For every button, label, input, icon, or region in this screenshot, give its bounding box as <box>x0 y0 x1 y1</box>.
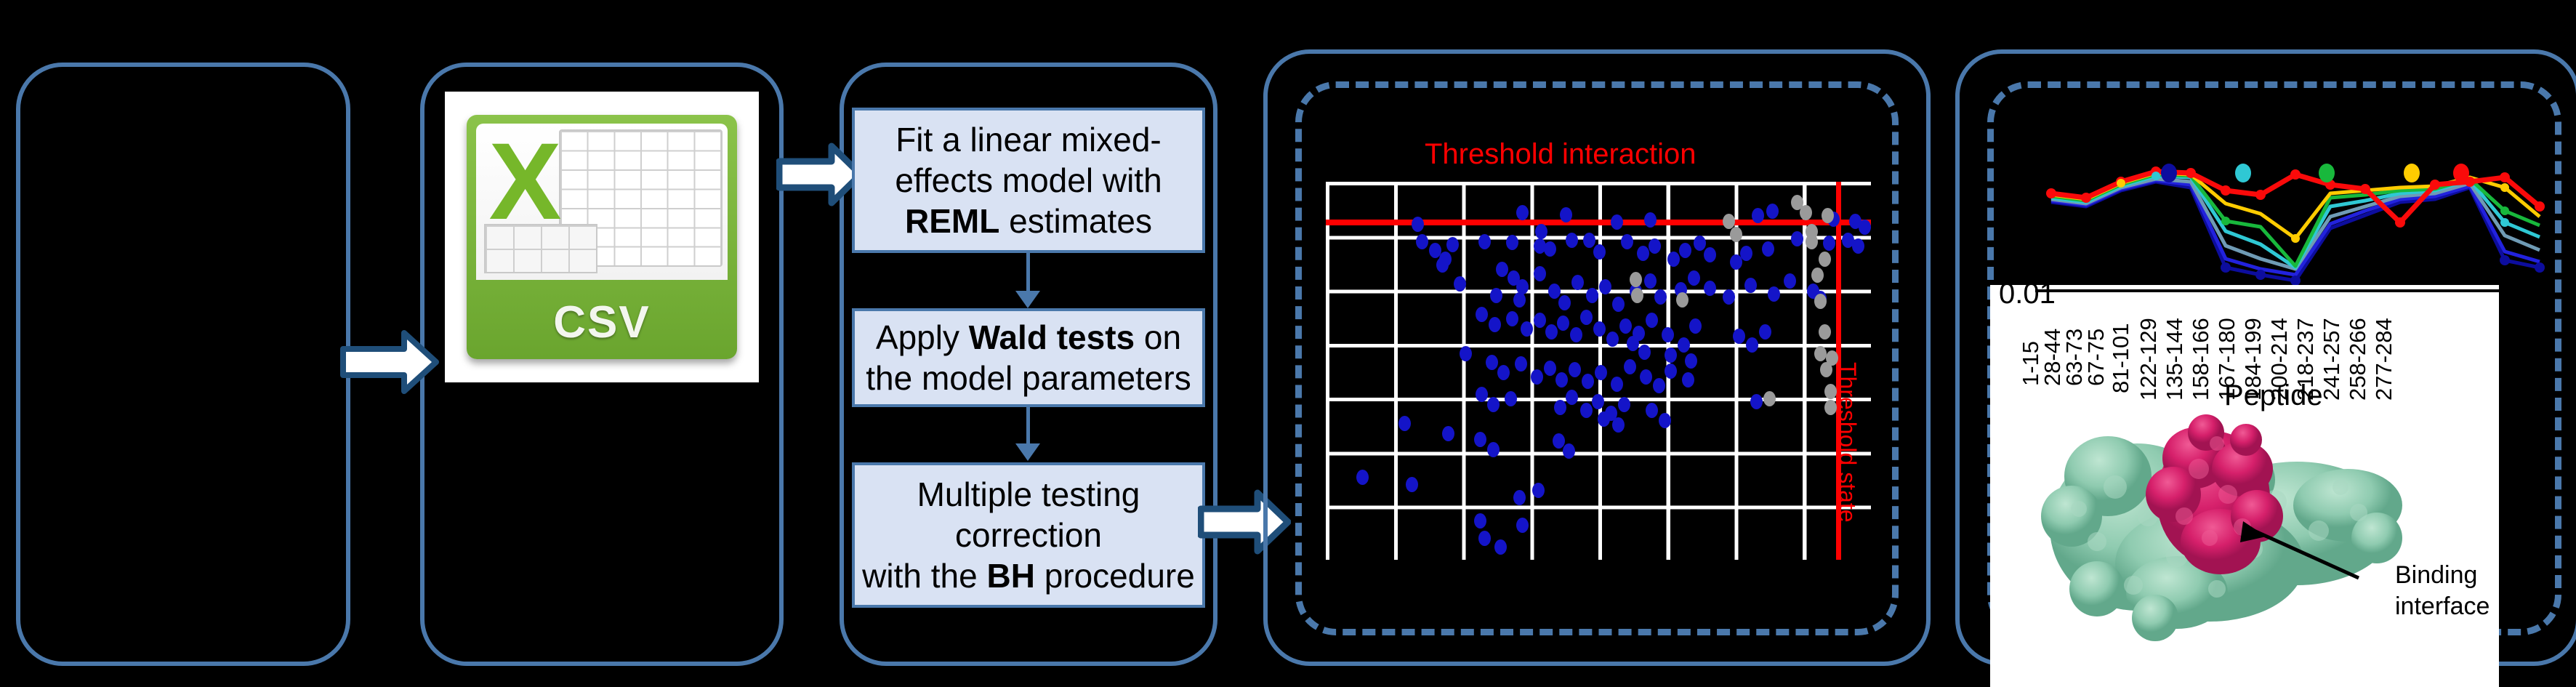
panel-input-source <box>16 63 350 666</box>
connector-1-2 <box>1026 253 1030 295</box>
y-axis-tick-label: 0.01 <box>1999 278 2056 310</box>
peptide-tick-8: 158-166 <box>2188 318 2214 401</box>
step3-line2: correction <box>955 516 1102 554</box>
step2-pre: Apply <box>876 318 969 356</box>
step-wald-tests[interactable]: Apply Wald tests on the model parameters <box>852 308 1205 407</box>
peptide-tick-7: 135-144 <box>2162 318 2188 401</box>
arrow-to-analysis <box>776 142 864 206</box>
arrow-to-csv <box>340 329 439 395</box>
peptide-response-line-chart <box>2042 158 2551 289</box>
threshold-interaction-label: Threshold interaction <box>1425 138 1696 171</box>
legend-dot-2 <box>2235 164 2251 182</box>
scatter-plot-area: Threshold state <box>1326 182 1871 560</box>
peptide-tick-5: 81-101 <box>2108 323 2134 393</box>
threshold-state-label: Threshold state <box>1834 362 1861 523</box>
csv-label: CSV <box>467 286 737 359</box>
csv-card: X CSV <box>445 92 759 382</box>
step1-line3-tail: estimates <box>999 202 1152 240</box>
step-bh-correction[interactable]: Multiple testing correction with the BH … <box>852 462 1205 608</box>
connector-2-3-arrowhead <box>1015 443 1040 461</box>
connector-2-3 <box>1026 407 1030 448</box>
step3-post: procedure <box>1035 557 1195 595</box>
step1-line2: effects model with <box>895 161 1162 199</box>
x-axis-line <box>2035 289 2499 292</box>
step2-line2: the model parameters <box>866 359 1191 397</box>
protein-surface-svg <box>2028 407 2435 647</box>
step1-bold-reml: REML <box>905 202 999 240</box>
step3-pre: with the <box>862 557 986 595</box>
protein-structure-image <box>2028 407 2435 647</box>
peptide-tick-14: 258-266 <box>2345 318 2371 401</box>
step2-bold-wald: Wald tests <box>969 318 1135 356</box>
binding-interface-label-line2: interface <box>2395 591 2490 622</box>
threshold-scatter-plot: Threshold interaction Threshold state <box>1317 135 1884 586</box>
connector-1-2-arrowhead <box>1015 291 1040 308</box>
binding-interface-label: Binding interface <box>2395 560 2490 622</box>
spreadsheet-graphic: X <box>476 124 728 280</box>
peptide-tick-6: 122-129 <box>2136 318 2162 401</box>
step2-post: on <box>1135 318 1181 356</box>
binding-interface-label-line1: Binding <box>2395 560 2490 591</box>
step1-line1: Fit a linear mixed- <box>895 121 1162 158</box>
step3-bold-bh: BH <box>986 557 1034 595</box>
excel-x-glyph: X <box>489 126 562 236</box>
threshold-interaction-line <box>1326 220 1871 225</box>
legend-dot-1 <box>2161 164 2177 182</box>
legend-dot-3 <box>2319 164 2335 182</box>
legend-dot-5 <box>2453 164 2469 182</box>
step3-line1: Multiple testing <box>917 475 1140 513</box>
csv-file-icon: X CSV <box>467 115 737 359</box>
line-chart-svg <box>2042 158 2551 289</box>
step-reml-model[interactable]: Fit a linear mixed- effects model with R… <box>852 108 1205 253</box>
peptide-tick-4: 67-75 <box>2083 329 2109 386</box>
legend-dot-4 <box>2404 164 2420 182</box>
peptide-tick-15: 277-284 <box>2371 318 2397 401</box>
